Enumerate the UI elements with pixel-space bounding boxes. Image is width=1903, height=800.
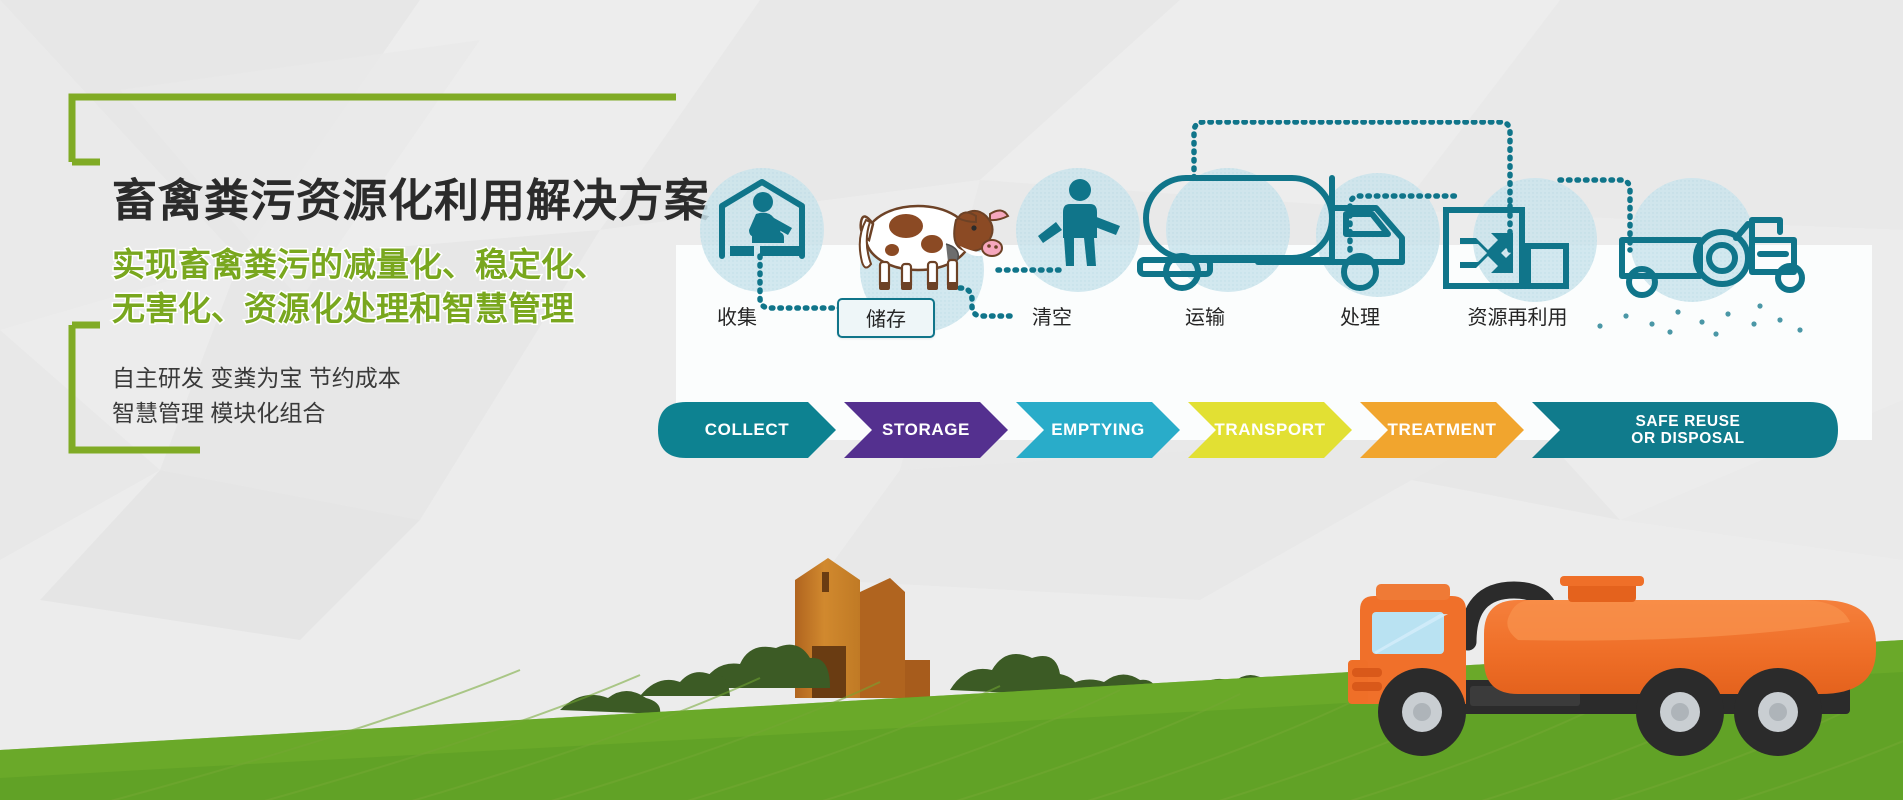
process-diagram-graphics xyxy=(660,120,1880,440)
farm-scene xyxy=(0,460,1903,800)
chevron-label-treatment[interactable]: TREATMENT xyxy=(1374,402,1510,458)
feature-line-1: 自主研发 变粪为宝 节约成本 xyxy=(112,361,732,397)
stage-label-collect: 收集 xyxy=(682,298,792,338)
farm-scene-graphics xyxy=(0,460,1903,800)
stage-label-storage[interactable]: 储存 xyxy=(837,298,935,338)
hero-banner: 畜禽粪污资源化利用解决方案 实现畜禽粪污的减量化、稳定化、 无害化、资源化处理和… xyxy=(0,0,1903,800)
feature-line-2: 智慧管理 模块化组合 xyxy=(112,396,732,432)
stage-label-transport: 运输 xyxy=(1150,298,1260,338)
stage-label-reuse: 资源再利用 xyxy=(1435,298,1600,338)
chevron-label-collect[interactable]: COLLECT xyxy=(658,402,836,458)
subtitle-line-1: 实现畜禽粪污的减量化、稳定化、 xyxy=(112,243,732,287)
process-diagram: 收集 储存 清空 运输 处理 资源再利用 xyxy=(660,120,1880,440)
chevron-label-emptying[interactable]: EMPTYING xyxy=(1030,402,1166,458)
page-title: 畜禽粪污资源化利用解决方案 xyxy=(112,175,732,227)
process-chevron-strip: COLLECT STORAGE EMPTYING TRANSPORT TREAT… xyxy=(658,402,1838,458)
chevron-label-storage[interactable]: STORAGE xyxy=(858,402,994,458)
subtitle-line-2: 无害化、资源化处理和智慧管理 xyxy=(112,287,732,331)
stage-label-row: 收集 储存 清空 运输 处理 资源再利用 xyxy=(660,298,1880,346)
feature-list: 自主研发 变粪为宝 节约成本 智慧管理 模块化组合 xyxy=(112,361,732,432)
page-subtitle: 实现畜禽粪污的减量化、稳定化、 无害化、资源化处理和智慧管理 xyxy=(112,243,732,331)
stage-label-emptying: 清空 xyxy=(997,298,1107,338)
stage-label-treatment: 处理 xyxy=(1305,298,1415,338)
chevron-label-transport[interactable]: TRANSPORT xyxy=(1202,402,1338,458)
hero-text-block: 畜禽粪污资源化利用解决方案 实现畜禽粪污的减量化、稳定化、 无害化、资源化处理和… xyxy=(112,175,732,432)
chevron-label-safe-reuse[interactable]: SAFE REUSE OR DISPOSAL xyxy=(1558,402,1818,458)
